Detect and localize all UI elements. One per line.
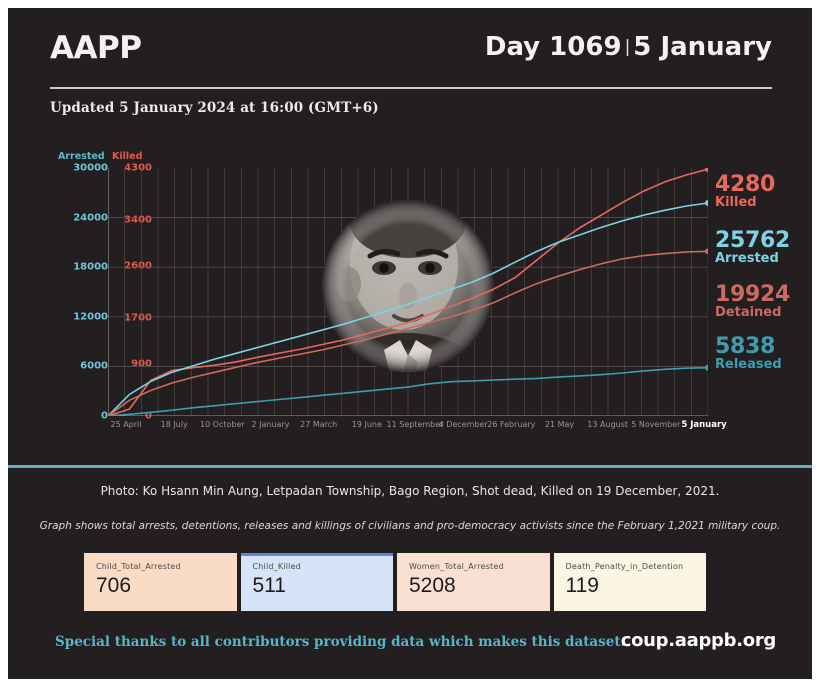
stat-card-women_total_arrested[interactable]: Women_Total_Arrested5208 bbox=[397, 553, 550, 611]
section-divider bbox=[8, 465, 812, 468]
callout-killed: 4280 Killed bbox=[715, 174, 812, 210]
left-axis-tick-12000: 12000 bbox=[52, 311, 108, 322]
stat-card-title: Child_Killed bbox=[253, 562, 382, 571]
x-axis-tick-21-may: 21 May bbox=[545, 420, 574, 429]
poster-footer: Special thanks to all contributors provi… bbox=[50, 630, 776, 658]
day-date-separator: | bbox=[622, 37, 634, 57]
callout-released-value: 5838 bbox=[715, 336, 812, 358]
stat-card-value: 706 bbox=[96, 574, 225, 598]
series-endpoint-arrested bbox=[705, 200, 708, 206]
stat-card-title: Death_Penalty_in_Detention bbox=[566, 562, 695, 571]
callout-arrested: 25762 Arrested bbox=[715, 230, 812, 266]
contributors-thanks: Special thanks to all contributors provi… bbox=[55, 634, 625, 650]
day-date-stamp: Day 1069|5 January bbox=[485, 32, 772, 62]
stat-card-title: Child_Total_Arrested bbox=[96, 562, 225, 571]
current-date: 5 January bbox=[633, 32, 772, 62]
website-url[interactable]: coup.aappb.org bbox=[621, 630, 776, 651]
callout-released-label: Released bbox=[715, 358, 812, 372]
chart-endpoint-markers bbox=[705, 168, 708, 371]
series-endpoint-killed bbox=[705, 168, 708, 172]
x-axis-tick-25-april: 25 April bbox=[110, 420, 141, 429]
callout-arrested-label: Arrested bbox=[715, 252, 812, 266]
stat-card-accent bbox=[554, 553, 707, 556]
stat-card-title: Women_Total_Arrested bbox=[409, 562, 538, 571]
callout-detained: 19924 Detained bbox=[715, 284, 812, 320]
header-divider bbox=[50, 87, 772, 89]
photo-caption: Photo: Ko Hsann Min Aung, Letpadan Towns… bbox=[8, 484, 812, 498]
callout-detained-value: 19924 bbox=[715, 284, 812, 306]
x-axis-tick-10-october: 10 October bbox=[200, 420, 245, 429]
poster-header: AAPP Day 1069|5 January bbox=[50, 30, 772, 92]
graph-description-note: Graph shows total arrests, detentions, r… bbox=[8, 520, 812, 532]
series-endpoint-detained bbox=[705, 248, 708, 254]
stat-card-death_penalty_in_detention[interactable]: Death_Penalty_in_Detention119 bbox=[554, 553, 707, 611]
series-endpoint-released bbox=[705, 365, 708, 371]
left-axis-tick-18000: 18000 bbox=[52, 262, 108, 273]
stat-card-accent bbox=[397, 553, 550, 556]
chart-plot-area bbox=[108, 168, 708, 416]
x-axis-tick-26-february: 26 February bbox=[487, 420, 535, 429]
chart-value-callouts: 4280 Killed 25762 Arrested 19924 Detaine… bbox=[715, 160, 812, 374]
victim-photo bbox=[322, 186, 494, 390]
left-axis-tick-24000: 24000 bbox=[52, 212, 108, 223]
stat-card-value: 119 bbox=[566, 574, 695, 598]
x-axis-tick-2-january: 2 January bbox=[252, 420, 290, 429]
brand-title: AAPP bbox=[50, 30, 141, 66]
x-axis-tick-18-july: 18 July bbox=[161, 420, 188, 429]
updated-timestamp: Updated 5 January 2024 at 16:00 (GMT+6) bbox=[50, 100, 379, 116]
stat-card-value: 5208 bbox=[409, 574, 538, 598]
callout-arrested-value: 25762 bbox=[715, 230, 812, 252]
x-axis-tick-19-june: 19 June bbox=[352, 420, 382, 429]
left-axis-tick-0: 0 bbox=[52, 411, 108, 422]
callout-killed-label: Killed bbox=[715, 196, 812, 210]
callout-detained-label: Detained bbox=[715, 306, 812, 320]
infographic-poster: AAPP Day 1069|5 January Updated 5 Januar… bbox=[8, 8, 812, 679]
stat-card-child_total_arrested[interactable]: Child_Total_Arrested706 bbox=[84, 553, 237, 611]
day-counter: Day 1069 bbox=[485, 32, 622, 62]
left-axis-title: Arrested bbox=[58, 151, 105, 162]
right-axis-title: Killed bbox=[112, 151, 142, 162]
x-axis-tick-5-november: 5 November bbox=[631, 420, 680, 429]
stat-card-value: 511 bbox=[253, 574, 382, 598]
callout-released: 5838 Released bbox=[715, 336, 812, 372]
x-axis-tick-11-september: 11 September bbox=[387, 420, 444, 429]
stat-card-accent bbox=[241, 553, 394, 556]
left-axis-tick-6000: 6000 bbox=[52, 361, 108, 372]
chart-svg bbox=[108, 168, 708, 416]
x-axis-tick-27-march: 27 March bbox=[300, 420, 337, 429]
callout-killed-value: 4280 bbox=[715, 174, 812, 196]
x-axis-tick-13-august: 13 August bbox=[587, 420, 628, 429]
x-axis-tick-5-january: 5 January bbox=[681, 420, 726, 430]
x-axis-tick-4-december: 4 December bbox=[439, 420, 488, 429]
left-axis-tick-30000: 30000 bbox=[52, 163, 108, 174]
summary-stat-cards: Child_Total_Arrested706Child_Killed511Wo… bbox=[84, 553, 706, 611]
stat-card-child_killed[interactable]: Child_Killed511 bbox=[241, 553, 394, 611]
timeseries-chart: Arrested Killed 060001200018000240003000… bbox=[50, 148, 772, 448]
stat-card-accent bbox=[84, 553, 237, 556]
